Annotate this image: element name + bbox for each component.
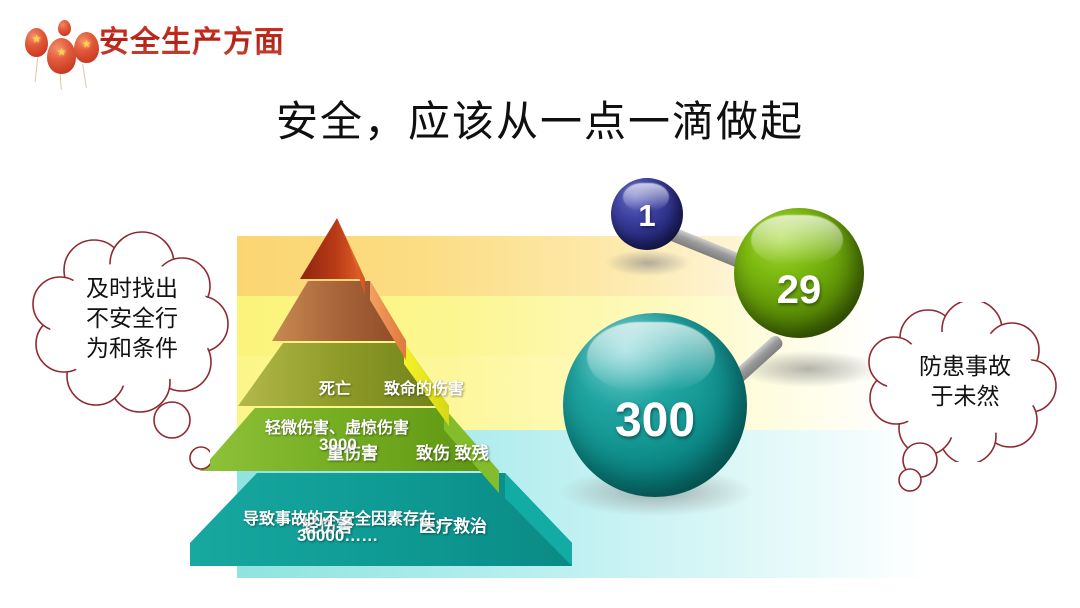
sphere-1-shadow: [606, 250, 690, 276]
sphere-29-value: 29: [734, 268, 864, 313]
pyramid-level-2-right-label: 致伤 致残: [416, 439, 489, 464]
thought-bubble-right-text: 防患事故 于未然: [860, 352, 1070, 412]
sphere-300-value: 300: [563, 393, 747, 448]
sphere-1-value: 1: [611, 198, 683, 234]
thought-bubble-left-text: 及时找出 不安全行 为和条件: [22, 274, 242, 364]
pyramid-level-5-count: 30000……: [297, 526, 378, 546]
header-title: 安全生产方面: [99, 17, 285, 61]
sphere-gloss: [751, 215, 843, 265]
balloon-center: ★: [47, 38, 76, 74]
balloon-star-icon: ★: [82, 40, 92, 51]
balloon-string: [82, 64, 87, 88]
thought-bubble-right-tail: [888, 440, 958, 500]
slide-canvas: ★ ★ ★ 安全生产方面 安全，应该从一点一滴做起: [0, 0, 1080, 608]
slide-header: ★ ★ ★ 安全生产方面: [0, 0, 1080, 82]
balloon-right: ★: [74, 32, 99, 63]
sphere-29-shadow: [738, 351, 878, 387]
pyramid-level-1-right-label: 致命的伤害: [384, 375, 464, 399]
balloon-star-icon: ★: [32, 35, 42, 46]
sphere-29: 29: [734, 208, 864, 338]
pyramid-level-4-count: 3000: [319, 435, 357, 455]
balloon-star-icon: ★: [57, 48, 67, 59]
pyramid-level-1-left-label: 死亡: [319, 375, 351, 399]
balloon-small-top: [58, 20, 71, 36]
balloons-icon: ★ ★ ★: [14, 12, 106, 84]
sphere-300: 300: [563, 313, 747, 497]
page-title: 安全，应该从一点一滴做起: [0, 88, 1080, 149]
thought-bubble-left: 及时找出 不安全行 为和条件: [22, 228, 242, 418]
balloon-string: [35, 56, 39, 82]
balloon-left: ★: [25, 28, 48, 57]
thought-bubble-left-tail: [150, 398, 210, 478]
sphere-gloss: [587, 322, 715, 392]
sphere-1: 1: [611, 178, 683, 250]
thought-bubble-right: 防患事故 于未然: [860, 302, 1070, 462]
